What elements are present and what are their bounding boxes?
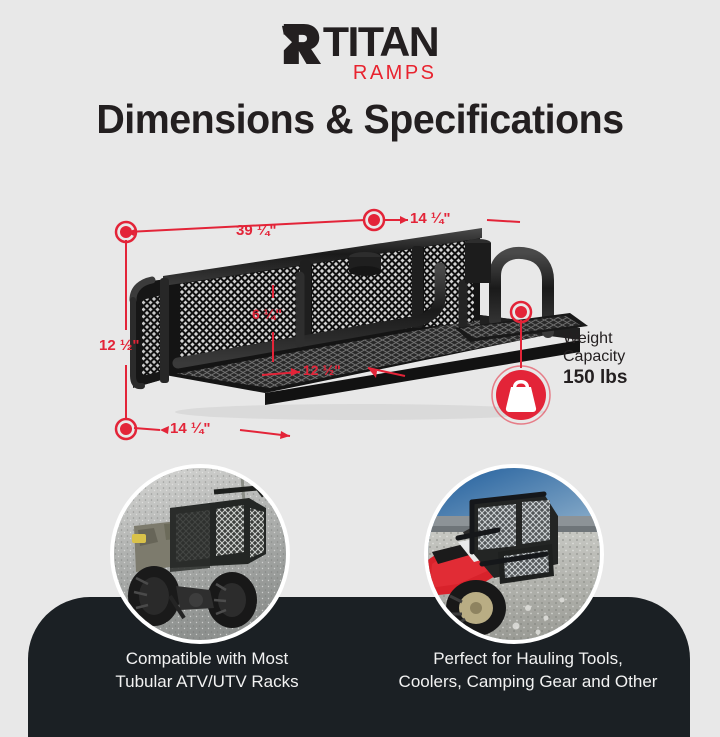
feature-caption-1-line1: Compatible with Most (52, 648, 362, 671)
atv-rear-rack-basket-photo-icon (114, 468, 286, 640)
dimension-label-overall-length: 39 ¼" (236, 222, 276, 239)
dimension-label-overall-width: 14 ¼" (410, 210, 450, 227)
brand-name: TITAN (323, 22, 438, 62)
weight-capacity-label-line1: Weight (563, 330, 683, 348)
feature-photo-2 (424, 464, 604, 644)
brand-subname: RAMPS (353, 63, 437, 83)
feature-caption-2-line2: Coolers, Camping Gear and Other (368, 671, 688, 694)
feature-caption-1: Compatible with Most Tubular ATV/UTV Rac… (52, 648, 362, 694)
titan-r-logo-mark-icon (282, 22, 322, 66)
dimension-label-overall-height: 12 ½" (99, 337, 139, 354)
weight-capacity-label-line2: Capacity (563, 348, 683, 366)
dimensions-diagram: 39 ¼" 14 ¼" 12 ½" 14 ¼" 6 ¼" 12 ½" (0, 180, 720, 460)
weight-capacity-value: 150 lbs (563, 367, 683, 389)
dimension-label-base-width: 14 ¼" (170, 420, 210, 437)
brand-logo: TITAN RAMPS (0, 22, 720, 80)
atv-cargo-basket-icon (0, 180, 720, 460)
red-atv-with-basket-photo-icon (428, 468, 600, 640)
feature-caption-2-line1: Perfect for Hauling Tools, (368, 648, 688, 671)
product-spec-page: TITAN RAMPS Dimensions & Specifications (0, 0, 720, 720)
dimension-label-inner-width: 12 ½" (303, 362, 341, 378)
feature-caption-1-line2: Tubular ATV/UTV Racks (52, 671, 362, 694)
dimension-label-inner-height: 6 ¼" (252, 306, 282, 322)
feature-photo-1 (110, 464, 290, 644)
weight-capacity-badge (492, 366, 550, 424)
weight-capacity-text: Weight Capacity 150 lbs (563, 330, 683, 389)
page-title: Dimensions & Specifications (14, 96, 705, 143)
feature-caption-2: Perfect for Hauling Tools, Coolers, Camp… (368, 648, 688, 694)
